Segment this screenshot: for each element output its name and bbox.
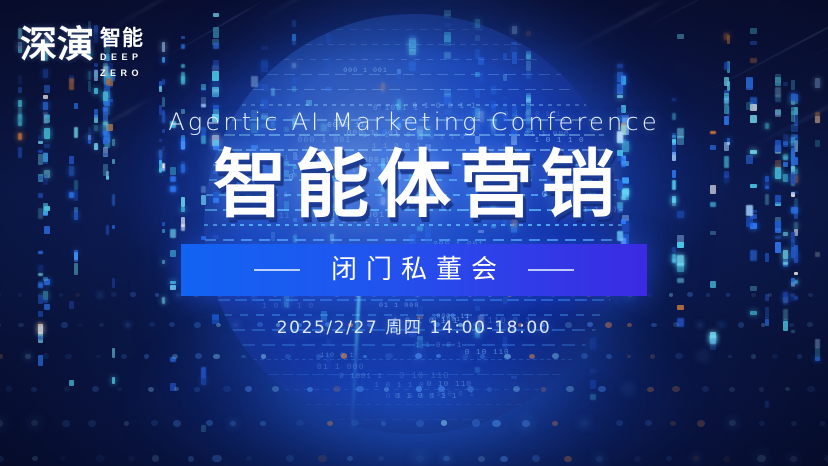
brand-logo[interactable]: 深演 智能 DEEP ZERO (20, 26, 144, 80)
dash-right-ornament (528, 269, 574, 271)
conference-poster: 0 1 0 0 1 11 0 1 1 0000 1 0010 10 1101 1… (0, 0, 828, 466)
dash-left-ornament (254, 269, 300, 271)
logo-brand-cn-sub: 智能 (100, 27, 144, 49)
logo-brand-en-line2: ZERO (100, 67, 144, 81)
subtitle-banner: 闭门私董会 (181, 244, 647, 296)
subtitle-text: 闭门私董会 (322, 257, 506, 283)
event-datetime: 2025/2/27 周四 14:00-18:00 (0, 320, 828, 337)
conference-eyebrow-title: Agentic AI Marketing Conference (0, 110, 828, 134)
logo-text-block: 智能 DEEP ZERO (100, 27, 144, 80)
page-title: 智能体营销 (0, 148, 828, 222)
logo-brand-cn: 深演 (20, 26, 94, 63)
logo-brand-en-line1: DEEP (100, 51, 144, 65)
subtitle-bar-wrapper: 闭门私董会 (0, 244, 828, 296)
